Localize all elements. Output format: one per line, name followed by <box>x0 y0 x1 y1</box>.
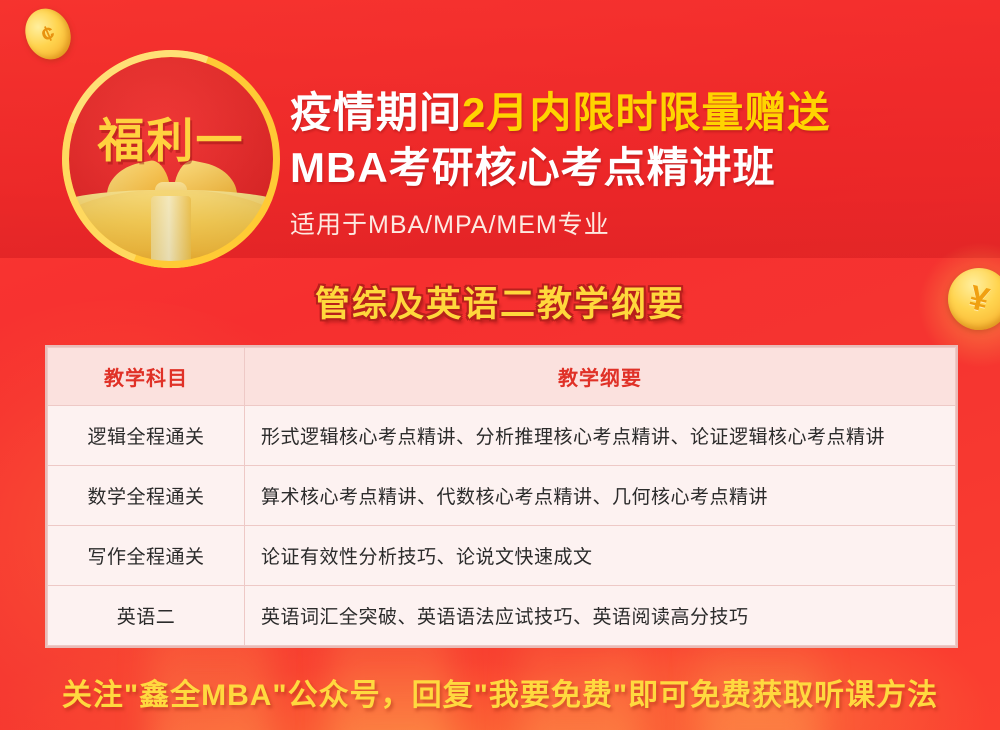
cell-subject: 数学全程通关 <box>48 466 245 526</box>
table-body: 逻辑全程通关 形式逻辑核心考点精讲、分析推理核心考点精讲、论证逻辑核心考点精讲 … <box>48 406 956 646</box>
cell-outline: 形式逻辑核心考点精讲、分析推理核心考点精讲、论证逻辑核心考点精讲 <box>245 406 956 466</box>
column-header-outline: 教学纲要 <box>245 348 956 406</box>
footer-cta: 关注"鑫全MBA"公众号，回复"我要免费"即可免费获取听课方法 <box>0 670 1000 714</box>
promo-poster: ¢ ¥ 福利一 疫情期间2月内限时限量赠送 MBA考研核心考点精讲班 适用于MB… <box>0 0 1000 730</box>
column-header-subject: 教学科目 <box>48 348 245 406</box>
table-row: 数学全程通关 算术核心考点精讲、代数核心考点精讲、几何核心考点精讲 <box>48 466 956 526</box>
headline-highlight: 2月内限时限量赠送 <box>462 89 830 136</box>
headline-prefix: 疫情期间 <box>290 89 462 136</box>
cell-subject: 逻辑全程通关 <box>48 406 245 466</box>
headline-subtitle: 适用于MBA/MPA/MEM专业 <box>290 205 950 241</box>
syllabus-table-container: 教学科目 教学纲要 逻辑全程通关 形式逻辑核心考点精讲、分析推理核心考点精讲、论… <box>45 345 958 648</box>
benefit-badge: 福利一 <box>62 50 280 268</box>
headline-block: 疫情期间2月内限时限量赠送 MBA考研核心考点精讲班 适用于MBA/MPA/ME… <box>290 86 950 241</box>
coin-symbol: ¢ <box>37 20 59 49</box>
syllabus-table: 教学科目 教学纲要 逻辑全程通关 形式逻辑核心考点精讲、分析推理核心考点精讲、论… <box>47 347 956 646</box>
table-row: 写作全程通关 论证有效性分析技巧、论说文快速成文 <box>48 526 956 586</box>
cell-subject: 英语二 <box>48 586 245 646</box>
headline-line-1: 疫情期间2月内限时限量赠送 <box>290 86 950 141</box>
cell-subject: 写作全程通关 <box>48 526 245 586</box>
table-head: 教学科目 教学纲要 <box>48 348 956 406</box>
badge-label: 福利一 <box>62 102 280 171</box>
table-row: 逻辑全程通关 形式逻辑核心考点精讲、分析推理核心考点精讲、论证逻辑核心考点精讲 <box>48 406 956 466</box>
section-title: 管综及英语二教学纲要 <box>0 276 1000 327</box>
table-header-row: 教学科目 教学纲要 <box>48 348 956 406</box>
cell-outline: 论证有效性分析技巧、论说文快速成文 <box>245 526 956 586</box>
table-row: 英语二 英语词汇全突破、英语语法应试技巧、英语阅读高分技巧 <box>48 586 956 646</box>
cell-outline: 英语词汇全突破、英语语法应试技巧、英语阅读高分技巧 <box>245 586 956 646</box>
cell-outline: 算术核心考点精讲、代数核心考点精讲、几何核心考点精讲 <box>245 466 956 526</box>
headline-line-2: MBA考研核心考点精讲班 <box>290 141 950 196</box>
